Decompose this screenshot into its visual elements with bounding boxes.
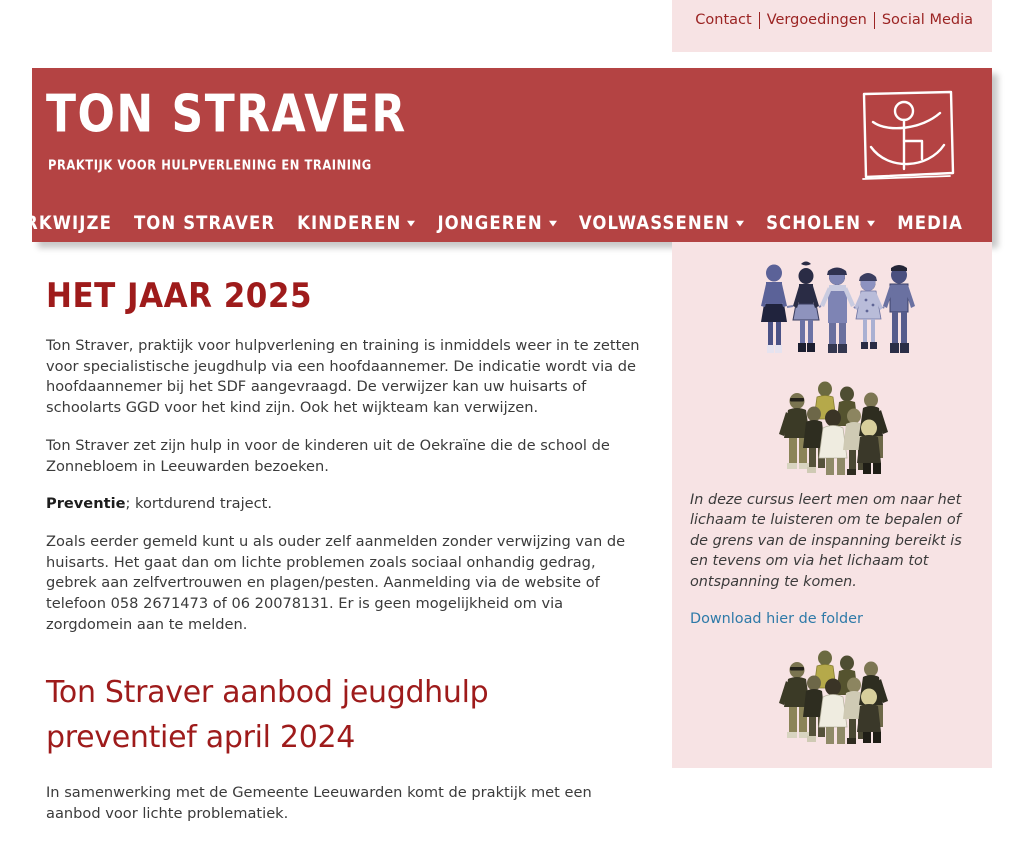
preventie-rest: ; kortdurend traject. xyxy=(125,495,272,512)
top-utility-bar: Contact Vergoedingen Social Media xyxy=(672,0,992,52)
chevron-down-icon xyxy=(867,221,875,227)
nav-label: KINDEREN xyxy=(297,212,401,234)
site-header: TON STRAVER PRAKTIJK VOOR HULPVERLENING … xyxy=(32,68,992,242)
nav-label: MEDIA xyxy=(897,212,963,234)
person-figure-logo-icon[interactable] xyxy=(860,89,956,183)
nav-item-volwassenen[interactable]: VOLWASSENEN xyxy=(568,207,755,238)
page-title: HET JAAR 2025 xyxy=(46,276,646,316)
site-tagline: PRAKTIJK VOOR HULPVERLENING EN TRAINING xyxy=(48,157,407,173)
download-folder-link[interactable]: Download hier de folder xyxy=(690,611,863,627)
sidebar-image-children[interactable] xyxy=(688,258,976,362)
nav-item-kinderen[interactable]: KINDEREN xyxy=(286,207,426,238)
paragraph-preventie: Preventie; kortdurend traject. xyxy=(46,494,646,515)
nav-item-media[interactable]: MEDIA xyxy=(886,207,974,238)
group-of-young-people-photo xyxy=(759,645,905,745)
sidebar-caption: In deze cursus leert men om naar het lic… xyxy=(690,490,974,592)
nav-label: JONGEREN xyxy=(437,212,542,234)
brand-block[interactable]: TON STRAVER PRAKTIJK VOOR HULPVERLENING … xyxy=(46,88,407,171)
sidebar: In deze cursus leert men om naar het lic… xyxy=(672,242,992,768)
nav-label: TON STRAVER xyxy=(134,212,275,234)
group-of-young-people-photo xyxy=(759,376,905,476)
site-title: TON STRAVER xyxy=(46,88,407,143)
chevron-down-icon xyxy=(407,221,415,227)
top-navigation: Contact Vergoedingen Social Media xyxy=(688,11,980,29)
nav-item-scholen[interactable]: SCHOLEN xyxy=(755,207,886,238)
nav-item-ton-straver[interactable]: TON STRAVER xyxy=(123,207,286,238)
nav-label: VOLWASSENEN xyxy=(579,212,730,234)
top-link-contact[interactable]: Contact xyxy=(688,11,758,29)
children-holding-hands-illustration xyxy=(749,258,915,362)
paragraph-gemeente: In samenwerking met de Gemeente Leeuward… xyxy=(46,783,646,824)
main-content: HET JAAR 2025 Ton Straver, praktijk voor… xyxy=(32,242,672,841)
sidebar-image-group-top[interactable] xyxy=(688,376,976,476)
top-link-vergoedingen[interactable]: Vergoedingen xyxy=(760,11,874,29)
preventie-label: Preventie xyxy=(46,495,125,512)
top-link-social-media[interactable]: Social Media xyxy=(875,11,980,29)
chevron-down-icon xyxy=(736,221,744,227)
sidebar-image-group-bottom[interactable] xyxy=(688,645,976,745)
nav-item-jongeren[interactable]: JONGEREN xyxy=(426,207,567,238)
chevron-down-icon xyxy=(549,221,557,227)
nav-item-werkwijze[interactable]: WERKWIJZE xyxy=(0,207,123,238)
paragraph-intro: Ton Straver, praktijk voor hulpverlening… xyxy=(46,336,646,419)
paragraph-aanmelden: Zoals eerder gemeld kunt u als ouder zel… xyxy=(46,532,646,636)
main-navigation: HOME WERKWIJZE TON STRAVER KINDEREN JONG… xyxy=(32,209,992,236)
nav-label: WERKWIJZE xyxy=(0,212,112,234)
nav-label: SCHOLEN xyxy=(766,212,861,234)
paragraph-oekraine: Ton Straver zet zijn hulp in voor de kin… xyxy=(46,436,646,477)
section-heading-aanbod: Ton Straver aanbod jeugdhulp preventief … xyxy=(46,670,646,761)
